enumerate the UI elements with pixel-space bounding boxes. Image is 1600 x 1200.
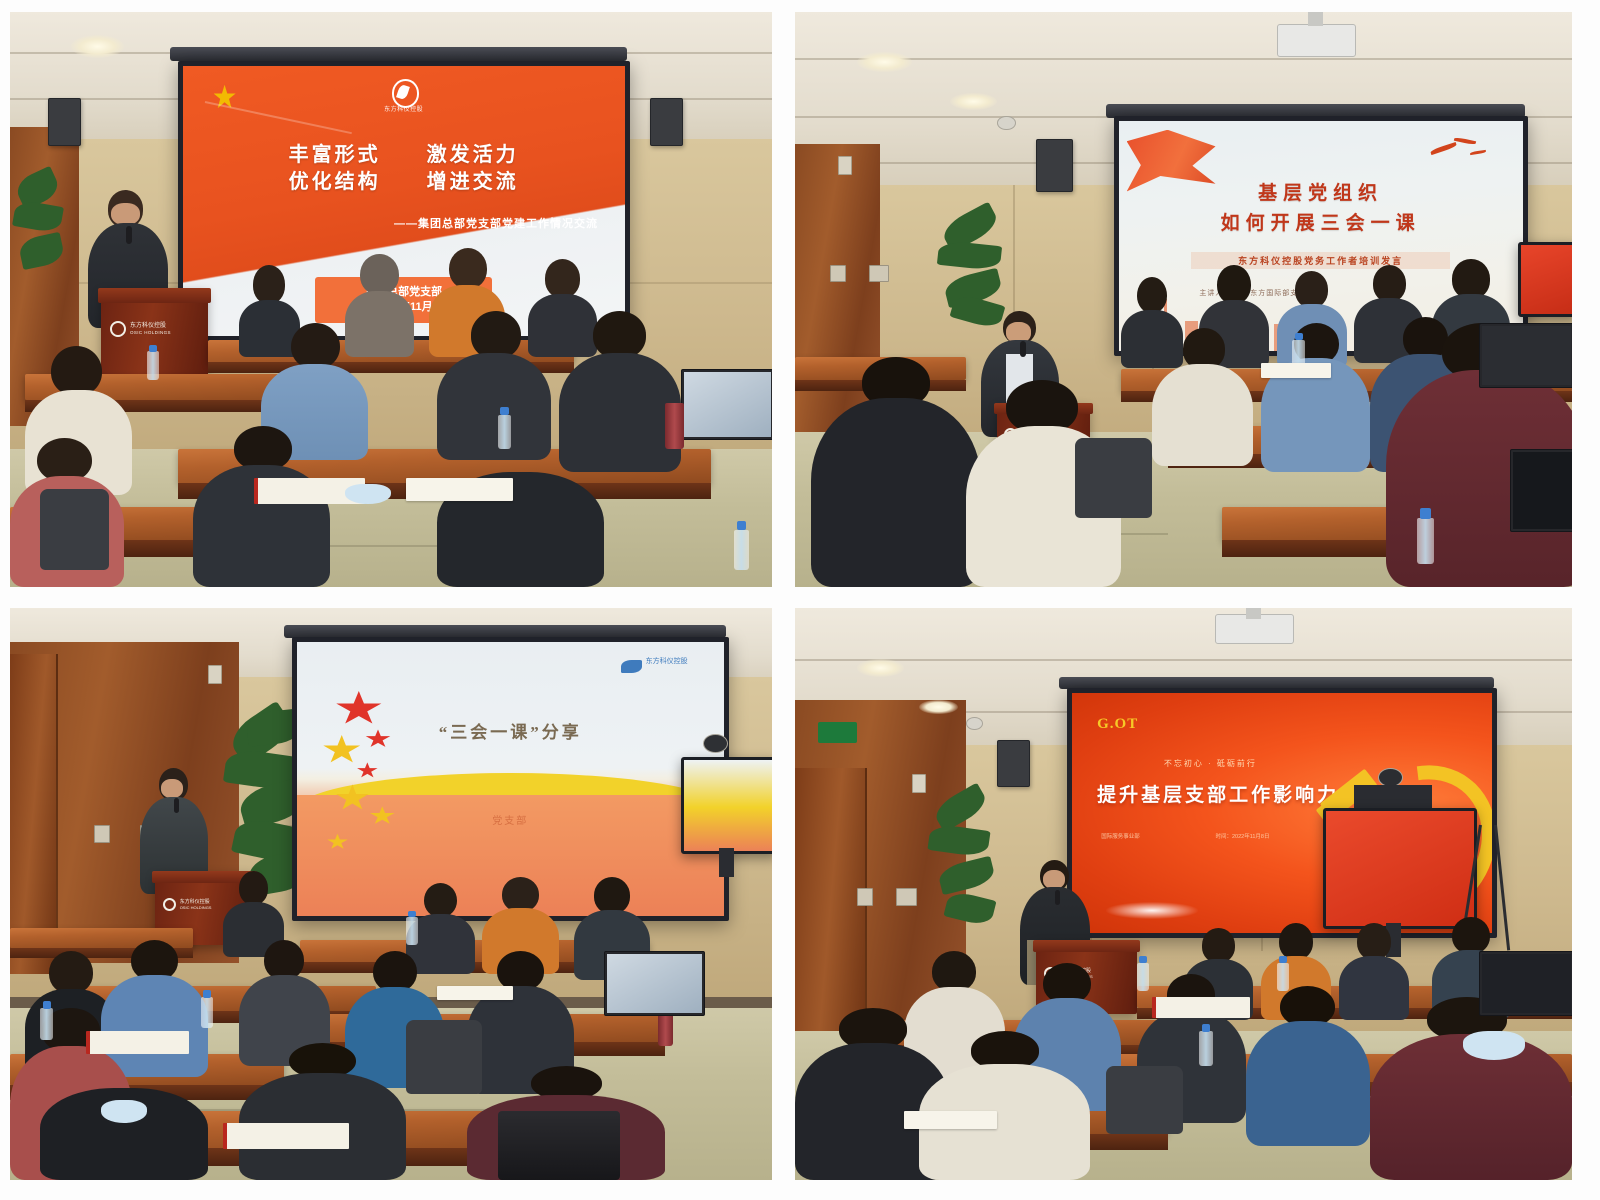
slide-title-line1: 基层党组织 — [1119, 178, 1523, 205]
ceiling-camera-icon — [997, 116, 1016, 131]
photo-panel-top-left[interactable]: 东方科仪控股 丰富形式 激发活力 优化结构 增进交流 ——集团总部党支部党建工作… — [10, 12, 772, 587]
wall-speaker — [997, 740, 1030, 788]
slide-title: “三会一课”分享 — [365, 718, 655, 743]
water-bottle — [734, 530, 749, 570]
water-bottle — [147, 351, 159, 380]
fire-alarm-box — [208, 665, 222, 684]
slide-subtitle: ——集团总部党支部党建工作情况交流 — [280, 215, 598, 231]
star-icon — [357, 762, 378, 778]
wall-speaker — [48, 98, 80, 146]
star-icon — [323, 735, 361, 765]
water-bottle — [406, 917, 418, 946]
water-bottle — [40, 1008, 53, 1039]
slide-title: 丰富形式 激发活力 优化结构 增进交流 — [236, 142, 572, 196]
side-monitor — [1323, 808, 1477, 928]
slide-title-line2: 如何开展三会一课 — [1119, 208, 1523, 235]
door — [10, 654, 58, 974]
flag-line — [205, 101, 352, 134]
audience-member — [1246, 986, 1370, 1146]
face-mask — [345, 484, 391, 504]
brand-mark: G.OT — [1097, 710, 1181, 739]
exit-sign-icon — [818, 722, 857, 743]
laptop — [1479, 951, 1572, 1016]
audience-member — [1261, 323, 1370, 473]
projector-mount — [1308, 12, 1324, 26]
water-bottle — [1137, 963, 1149, 992]
backpack — [40, 489, 109, 570]
monitor-mount — [1354, 785, 1432, 808]
photo-panel-top-right[interactable]: 基层党组织 如何开展三会一课 东方科仪控股党务工作者培训发言 主讲人：张明 东方… — [795, 12, 1572, 587]
wall-outlet — [857, 888, 873, 906]
water-bottle — [1199, 1031, 1213, 1065]
paper-sheet — [437, 986, 513, 1001]
ceiling-light — [950, 93, 997, 110]
microphone-icon — [174, 798, 179, 813]
audience-member — [193, 426, 330, 587]
open-notebook — [86, 1031, 189, 1054]
face-mask — [1463, 1031, 1525, 1060]
company-logo-text: 东方科仪控股 — [377, 104, 430, 113]
birds-graphic — [1430, 137, 1495, 167]
open-notebook — [1152, 997, 1249, 1018]
slide-content: “三会一课”分享 党支部 东方科仪控股 — [297, 642, 724, 917]
wall-speaker — [650, 98, 682, 146]
fire-alarm-box — [838, 156, 852, 175]
paper-sheet — [1261, 363, 1331, 378]
laptop — [1479, 323, 1572, 388]
screen-roller — [170, 47, 627, 62]
ceiling-light — [857, 659, 904, 676]
laptop — [681, 369, 772, 440]
backpack — [1075, 438, 1153, 519]
audience-member — [1370, 997, 1572, 1180]
photo-collage: 东方科仪控股 丰富形式 激发活力 优化结构 增进交流 ——集团总部党支部党建工作… — [0, 0, 1600, 1200]
audience-member — [437, 311, 551, 461]
ceiling-seam — [795, 58, 1572, 60]
water-bottle — [1277, 963, 1289, 992]
laptop — [604, 951, 705, 1016]
water-bottle — [201, 997, 214, 1028]
company-logo: 东方科仪控股 — [621, 655, 702, 680]
wall-outlet — [869, 265, 890, 282]
photo-panel-bottom-right[interactable]: G.OT 不忘初心 · 砥砺前行 提升基层支部工作影响力 国际服务事业部 时间：… — [795, 608, 1572, 1180]
paper-sheet — [904, 1111, 997, 1128]
ceiling-projector — [1277, 24, 1357, 58]
open-notebook — [223, 1123, 349, 1149]
audience-member — [239, 1043, 407, 1180]
conference-room-scene: 基层党组织 如何开展三会一课 东方科仪控股党务工作者培训发言 主讲人：张明 东方… — [795, 12, 1572, 587]
wall-speaker — [1036, 139, 1073, 193]
chair — [498, 1111, 620, 1180]
monitor-stand — [719, 848, 734, 877]
microphone-icon — [126, 226, 132, 244]
wall-outlet — [830, 265, 846, 282]
water-bottle — [1417, 518, 1434, 564]
screen-roller — [284, 625, 726, 638]
conference-room-scene: 东方科仪控股 丰富形式 激发活力 优化结构 增进交流 ——集团总部党支部党建工作… — [10, 12, 772, 587]
podium-logo: 东方科仪控股 OSIC HOLDINGS — [110, 314, 200, 345]
tablet-device — [1510, 449, 1572, 532]
ceiling-seam — [795, 659, 1572, 661]
audience-member — [1152, 328, 1253, 466]
backpack — [406, 1020, 482, 1094]
audience-member — [811, 357, 982, 587]
conference-room-scene: G.OT 不忘初心 · 砥砺前行 提升基层支部工作影响力 国际服务事业部 时间：… — [795, 608, 1572, 1180]
potted-plant — [10, 162, 79, 312]
photo-panel-bottom-left[interactable]: “三会一课”分享 党支部 东方科仪控股 — [10, 608, 772, 1180]
side-monitor — [681, 757, 772, 855]
conference-room-scene: “三会一课”分享 党支部 东方科仪控股 — [10, 608, 772, 1180]
company-logo-icon — [621, 660, 642, 673]
lens-glare — [1106, 902, 1198, 919]
projector-mount — [1246, 608, 1262, 619]
slide-subtitle: 党支部 — [382, 812, 638, 827]
side-monitor — [1518, 242, 1572, 317]
paper-sheet — [406, 478, 513, 501]
ceiling-light — [71, 35, 124, 58]
company-logo-text: 东方科仪控股 — [646, 657, 703, 668]
microphone-icon — [1055, 890, 1060, 905]
wall-outlet — [896, 888, 917, 906]
water-bottle — [498, 415, 512, 450]
face-mask — [101, 1100, 147, 1123]
slide-kicker: 不忘初心 · 砥砺前行 — [1118, 758, 1303, 769]
audience-member — [559, 311, 681, 472]
podium-logo-icon — [163, 898, 176, 911]
company-logo: 东方科仪控股 — [377, 79, 430, 122]
backpack — [1106, 1066, 1184, 1135]
audience-member — [919, 1031, 1090, 1180]
wall-outlet — [94, 825, 110, 843]
thermos-bottle — [665, 403, 683, 449]
microphone-icon — [1020, 341, 1025, 356]
potted-plant — [927, 791, 1012, 940]
podium-logo-icon — [110, 321, 126, 337]
fire-alarm-box — [912, 774, 926, 793]
